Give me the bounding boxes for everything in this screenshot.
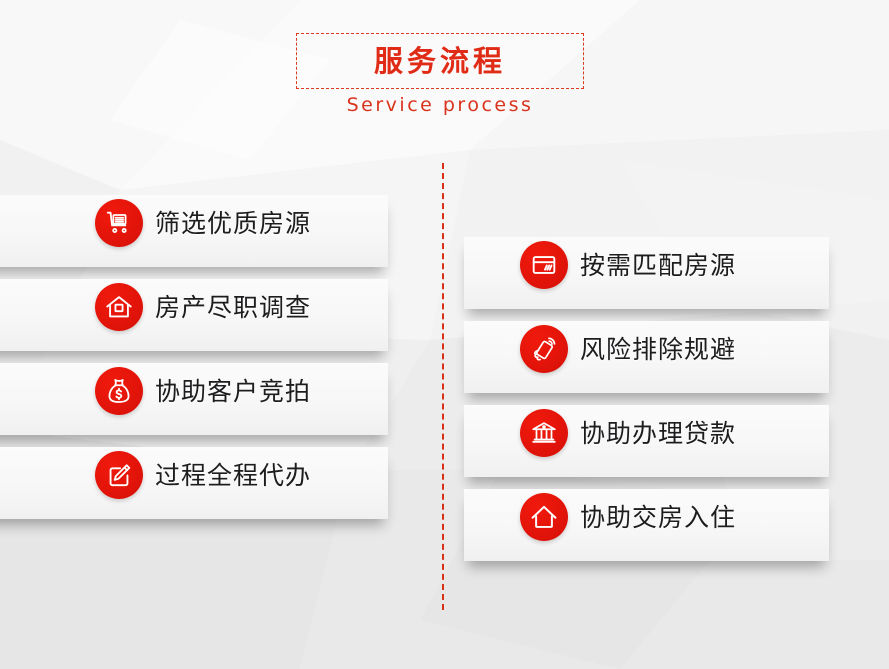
credit-card-icon (520, 241, 568, 289)
poster-header: 服务流程 Service process (0, 0, 889, 140)
list-item-label: 协助交房入住 (580, 498, 736, 538)
money-bag-icon (95, 367, 143, 415)
list-item-label: 过程全程代办 (155, 456, 311, 496)
list-item[interactable]: 筛选优质房源 (0, 195, 400, 278)
left-column: 筛选优质房源 房产尽职调查 (0, 195, 400, 531)
shopping-cart-icon (95, 199, 143, 247)
page-title: 服务流程 (296, 40, 584, 82)
list-item[interactable]: 协助客户竞拍 (0, 363, 400, 446)
house-icon (95, 283, 143, 331)
list-item[interactable]: 风险排除规避 (478, 321, 889, 404)
pencil-edit-icon (95, 451, 143, 499)
vertical-dashed-divider (442, 163, 444, 610)
page-subtitle: Service process (296, 92, 584, 118)
list-item-label: 协助客户竞拍 (155, 372, 311, 412)
list-item[interactable]: 按需匹配房源 (478, 237, 889, 320)
home-outline-icon (520, 493, 568, 541)
list-item[interactable]: 协助交房入住 (478, 489, 889, 572)
bank-building-icon (520, 409, 568, 457)
list-item-label: 房产尽职调查 (155, 288, 311, 328)
list-item-label: 按需匹配房源 (580, 246, 736, 286)
list-item-label: 筛选优质房源 (155, 204, 311, 244)
list-item[interactable]: 协助办理贷款 (478, 405, 889, 488)
hand-holding-phone-icon (520, 325, 568, 373)
service-process-poster: 服务流程 Service process 筛选优质房源 (0, 0, 889, 669)
list-item[interactable]: 过程全程代办 (0, 447, 400, 530)
list-item-label: 协助办理贷款 (580, 414, 736, 454)
list-item-label: 风险排除规避 (580, 330, 736, 370)
list-item[interactable]: 房产尽职调查 (0, 279, 400, 362)
right-column: 按需匹配房源 风险排除规避 (478, 237, 889, 573)
